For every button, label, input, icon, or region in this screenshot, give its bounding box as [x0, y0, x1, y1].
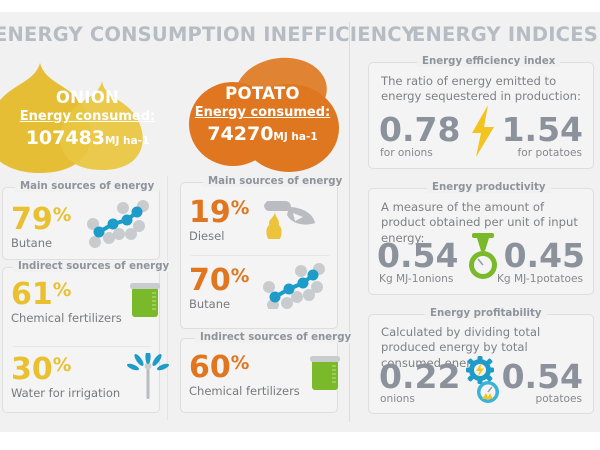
energy-productivity-potato-caption: Kg MJ-1potatoes [497, 273, 583, 285]
onion-indirect-sources-card: Indirect sources of energy 61% Chemical … [2, 267, 160, 413]
fuel-nozzle-icon [259, 193, 317, 243]
potato-main-row-butane: 70% Butane [189, 263, 325, 315]
potato-hero-text: POTATO Energy consumed: 74270MJ ha-1 [185, 84, 340, 145]
energy-profitability-card: Energy profitability Calculated by divid… [368, 314, 594, 414]
onion-indirect-row-water: 30% Water for irrigation [11, 352, 172, 404]
onion-main-row-butane: 79% Butane [11, 202, 149, 254]
potato-main-separator [191, 255, 329, 256]
onion-butane-pct: 79% [11, 206, 71, 235]
infographic-page: ENERGY CONSUMPTION INEFFICIENCY ENERGY I… [0, 0, 600, 450]
energy-productivity-onion-value: 0.54 [377, 236, 458, 275]
onion-indirect-separator [13, 346, 151, 347]
onion-fertilizer-label: Chemical fertilizers [11, 311, 122, 325]
potato-energy-label: Energy consumed: [185, 105, 340, 120]
energy-efficiency-index-card: Energy efficiency index The ratio of ene… [368, 62, 594, 169]
energy-productivity-card: Energy productivity A measure of the amo… [368, 188, 594, 295]
potato-energy-row: 74270MJ ha-1 [185, 123, 340, 145]
potato-indirect-sources-card: Indirect sources of energy 60% Chemical … [180, 338, 338, 413]
lightning-bolt-icon [468, 105, 498, 161]
energy-efficiency-legend: Energy efficiency index [417, 56, 560, 67]
potato-energy-value: 74270 [207, 123, 273, 145]
energy-profitability-legend: Energy profitability [425, 308, 547, 319]
energy-productivity-legend: Energy productivity [427, 182, 551, 193]
onion-hero-text: ONION Energy consumed: 107483MJ ha-1 [0, 88, 175, 149]
energy-profitability-onion-value: 0.22 [379, 357, 460, 396]
right-panel-title: ENERGY INDICES [412, 23, 598, 46]
onion-energy-unit: MJ ha-1 [105, 135, 149, 147]
onion-indirect-sources-legend: Indirect sources of energy [13, 261, 174, 272]
onion-energy-label: Energy consumed: [0, 109, 175, 124]
onion-water-pct: 30% [11, 356, 120, 385]
potato-main-sources-card: Main sources of energy 19% Diesel [180, 182, 338, 329]
energy-efficiency-onion-value: 0.78 [379, 110, 460, 149]
potato-fertilizer-label: Chemical fertilizers [189, 384, 300, 398]
energy-efficiency-potato-value: 1.54 [502, 110, 583, 149]
potato-main-sources-legend: Main sources of energy [203, 176, 347, 187]
potato-energy-unit: MJ ha-1 [273, 131, 317, 143]
onion-main-sources-card: Main sources of energy 79% Butane [2, 187, 160, 260]
energy-productivity-onion-caption: Kg MJ-1onions [379, 273, 453, 285]
potato-indirect-sources-legend: Indirect sources of energy [195, 332, 356, 343]
beaker-icon [128, 277, 162, 323]
onion-butane-label: Butane [11, 236, 71, 250]
weighing-scale-icon [468, 233, 498, 287]
onion-main-sources-legend: Main sources of energy [15, 181, 159, 192]
potato-butane-pct: 70% [189, 267, 249, 296]
onion-energy-value: 107483 [26, 127, 105, 149]
potato-fertilizer-pct: 60% [189, 354, 300, 383]
sprinkler-icon [124, 353, 172, 405]
energy-profitability-potato-value: 0.54 [502, 357, 583, 396]
potato-name: POTATO [185, 84, 340, 103]
left-panel-title: ENERGY CONSUMPTION INEFFICIENCY [0, 23, 416, 46]
butane-molecule-icon [85, 200, 149, 252]
beaker-icon [308, 350, 342, 396]
onion-water-label: Water for irrigation [11, 386, 120, 400]
onion-fertilizer-pct: 61% [11, 281, 122, 310]
onion-indirect-row-fertilizer: 61% Chemical fertilizers [11, 280, 162, 326]
energy-efficiency-description: The ratio of energy emitted to energy se… [381, 74, 586, 105]
onion-energy-row: 107483MJ ha-1 [0, 127, 175, 149]
potato-diesel-label: Diesel [189, 229, 249, 243]
butane-molecule-icon [261, 261, 325, 313]
panel-divider [349, 22, 350, 422]
potato-indirect-row-fertilizer: 60% Chemical fertilizers [189, 353, 342, 399]
energy-productivity-potato-value: 0.45 [504, 236, 585, 275]
potato-diesel-pct: 19% [189, 199, 249, 228]
onion-name: ONION [0, 88, 175, 107]
potato-main-row-diesel: 19% Diesel [189, 196, 317, 246]
energy-profitability-onion-caption: onions [380, 393, 415, 405]
energy-efficiency-onion-caption: for onions [380, 147, 433, 159]
potato-butane-label: Butane [189, 297, 249, 311]
energy-profitability-potato-caption: potatoes [535, 393, 582, 405]
energy-efficiency-potato-caption: for potatoes [518, 147, 582, 159]
gear-gauge-icon [462, 355, 504, 409]
